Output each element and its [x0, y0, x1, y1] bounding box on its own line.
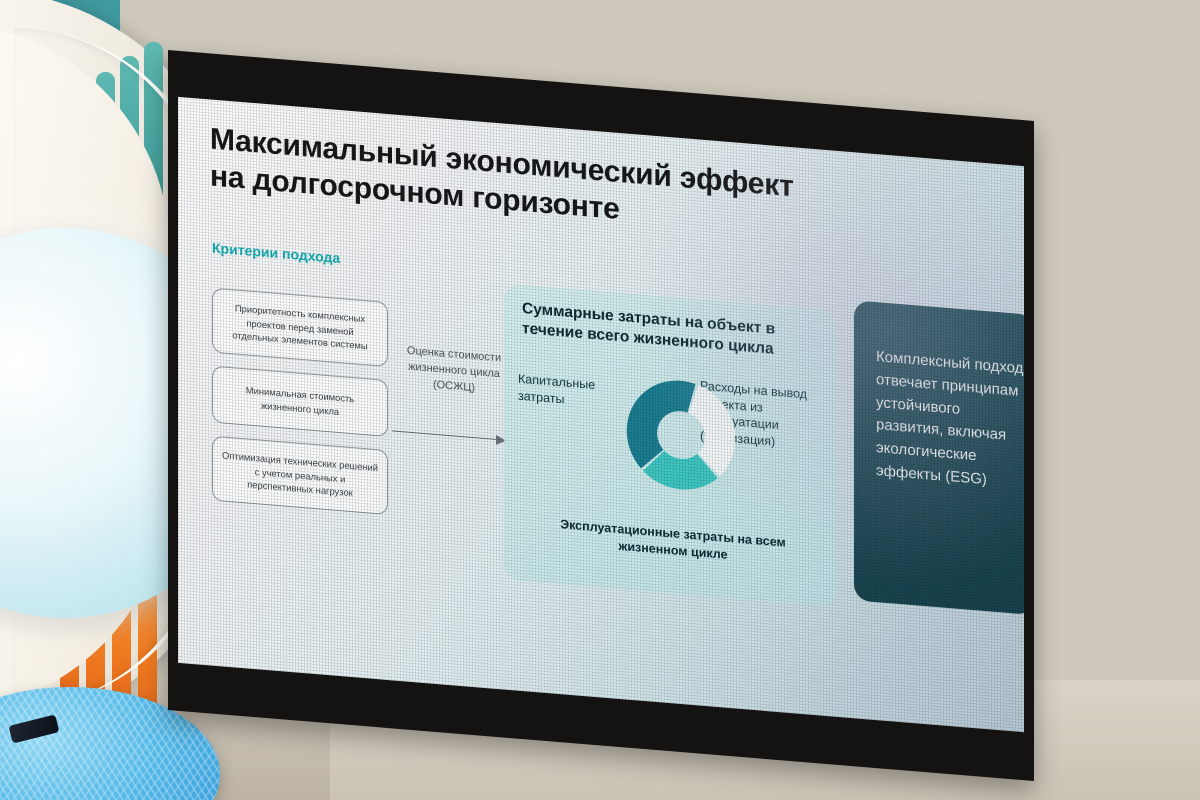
slide-main-content: Приоритетность комплексных проектов пере…: [204, 265, 1004, 621]
criteria-item: Оптимизация технических решений с учетом…: [212, 436, 388, 515]
donut-label-capital: Капитальные затраты: [518, 371, 614, 412]
arrow-right-icon: [392, 426, 512, 446]
lifecycle-cost-donut-chart: [622, 371, 740, 499]
screen-panel: Максимальный экономический эффект на дол…: [178, 97, 1024, 732]
criteria-list: Приоритетность комплексных проектов пере…: [212, 288, 388, 528]
presentation-slide: Максимальный экономический эффект на дол…: [178, 97, 1024, 732]
lifecycle-card-title: Суммарные затраты на объект в течение вс…: [522, 299, 822, 364]
donut-label-operational: Эксплуатационные затраты на всем жизненн…: [532, 514, 814, 570]
connector-label: Оценка стоимости жизненного цикла (ОСЖЦ): [400, 343, 508, 400]
criteria-item: Приоритетность комплексных проектов пере…: [212, 288, 388, 367]
lifecycle-cost-card: Суммарные затраты на объект в течение вс…: [504, 284, 836, 607]
esg-panel: Комплексный подход отвечает принципам ус…: [854, 300, 1024, 615]
criteria-item: Минимальная стоимость жизненного цикла: [212, 365, 388, 437]
section-kicker: Критерии подхода: [212, 240, 340, 267]
photo-scene: t a Максимальный экономический эффект на…: [0, 0, 1200, 800]
esg-panel-text: Комплексный подход отвечает принципам ус…: [876, 346, 1024, 495]
led-screen: Максимальный экономический эффект на дол…: [168, 50, 1034, 800]
